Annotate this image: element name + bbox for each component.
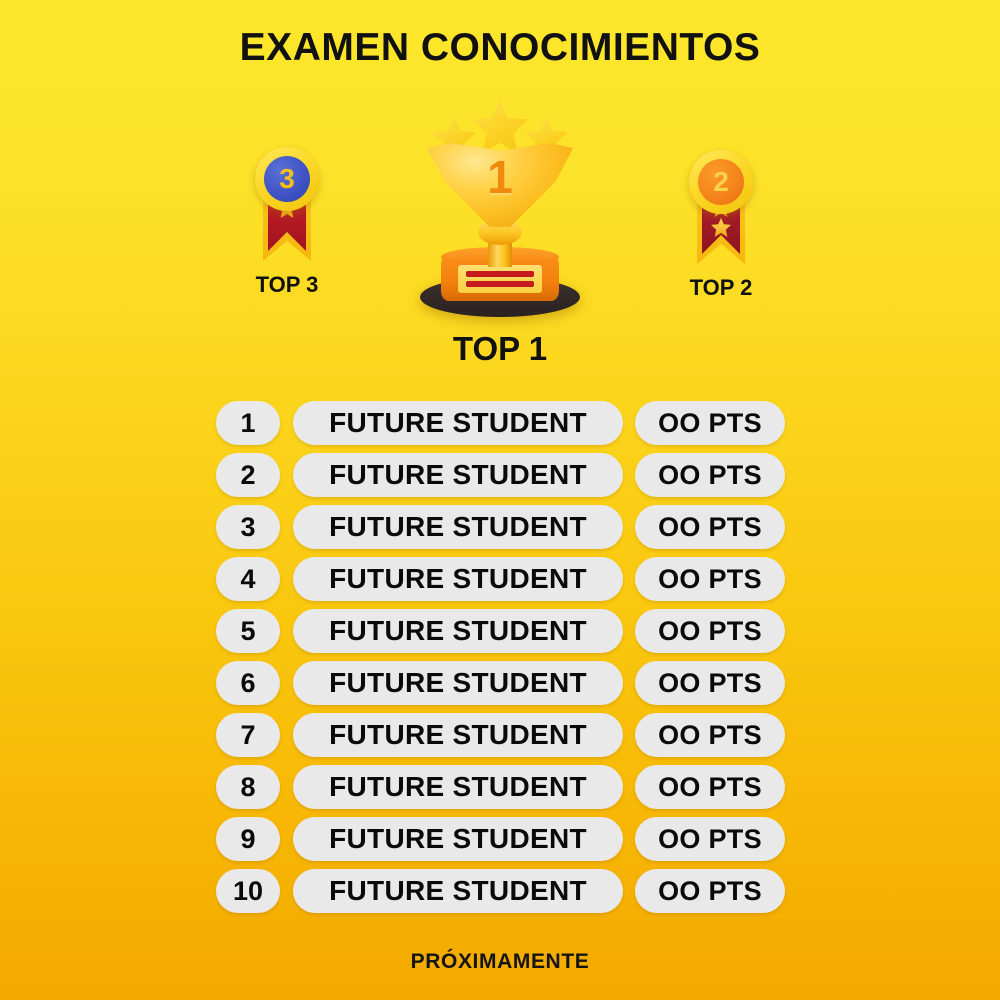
- leaderboard-row: 6FUTURE STUDENTOO PTS: [0, 661, 1000, 705]
- rank-pill: 5: [216, 609, 280, 653]
- leaderboard: 1FUTURE STUDENTOO PTS2FUTURE STUDENTOO P…: [0, 401, 1000, 921]
- medal-label-top3: TOP 3: [212, 272, 362, 298]
- trophy-number: 1: [427, 150, 573, 204]
- score-pill: OO PTS: [635, 817, 785, 861]
- leaderboard-row: 9FUTURE STUDENTOO PTS: [0, 817, 1000, 861]
- leaderboard-row: 2FUTURE STUDENTOO PTS: [0, 453, 1000, 497]
- rank-pill: 10: [216, 869, 280, 913]
- trophy-plaque: [458, 265, 542, 293]
- score-pill: OO PTS: [635, 869, 785, 913]
- leaderboard-row: 5FUTURE STUDENTOO PTS: [0, 609, 1000, 653]
- score-pill: OO PTS: [635, 453, 785, 497]
- medal-label-top2: TOP 2: [646, 275, 796, 301]
- player-name-pill: FUTURE STUDENT: [293, 453, 623, 497]
- rank-pill: 8: [216, 765, 280, 809]
- rank-pill: 6: [216, 661, 280, 705]
- medal-disc-icon: 2: [689, 150, 753, 214]
- score-pill: OO PTS: [635, 505, 785, 549]
- score-pill: OO PTS: [635, 609, 785, 653]
- rank-pill: 4: [216, 557, 280, 601]
- player-name-pill: FUTURE STUDENT: [293, 869, 623, 913]
- score-pill: OO PTS: [635, 765, 785, 809]
- plaque-bar: [466, 281, 534, 287]
- rank-pill: 9: [216, 817, 280, 861]
- leaderboard-row: 10FUTURE STUDENTOO PTS: [0, 869, 1000, 913]
- leaderboard-row: 1FUTURE STUDENTOO PTS: [0, 401, 1000, 445]
- rank-pill: 3: [216, 505, 280, 549]
- trophy-label-top1: TOP 1: [0, 330, 1000, 368]
- leaderboard-row: 4FUTURE STUDENTOO PTS: [0, 557, 1000, 601]
- player-name-pill: FUTURE STUDENT: [293, 401, 623, 445]
- trophy-stars: [428, 100, 572, 148]
- footer-text: PRÓXIMAMENTE: [0, 950, 1000, 974]
- plaque-bar: [466, 271, 534, 277]
- player-name-pill: FUTURE STUDENT: [293, 765, 623, 809]
- player-name-pill: FUTURE STUDENT: [293, 817, 623, 861]
- score-pill: OO PTS: [635, 401, 785, 445]
- player-name-pill: FUTURE STUDENT: [293, 661, 623, 705]
- medal-number: 3: [264, 156, 310, 202]
- player-name-pill: FUTURE STUDENT: [293, 713, 623, 757]
- leaderboard-row: 8FUTURE STUDENTOO PTS: [0, 765, 1000, 809]
- medal-number: 2: [698, 159, 744, 205]
- leaderboard-row: 7FUTURE STUDENTOO PTS: [0, 713, 1000, 757]
- rank-pill: 1: [216, 401, 280, 445]
- score-pill: OO PTS: [635, 557, 785, 601]
- score-pill: OO PTS: [635, 661, 785, 705]
- page-title: EXAMEN CONOCIMIENTOS: [0, 26, 1000, 70]
- player-name-pill: FUTURE STUDENT: [293, 505, 623, 549]
- player-name-pill: FUTURE STUDENT: [293, 557, 623, 601]
- podium-section: 3 TOP 3 1 2 TOP 2 TOP 1: [0, 95, 1000, 365]
- leaderboard-row: 3FUTURE STUDENTOO PTS: [0, 505, 1000, 549]
- score-pill: OO PTS: [635, 713, 785, 757]
- rank-pill: 7: [216, 713, 280, 757]
- player-name-pill: FUTURE STUDENT: [293, 609, 623, 653]
- rank-pill: 2: [216, 453, 280, 497]
- star-icon: [472, 100, 528, 154]
- medal-disc-icon: 3: [255, 147, 319, 211]
